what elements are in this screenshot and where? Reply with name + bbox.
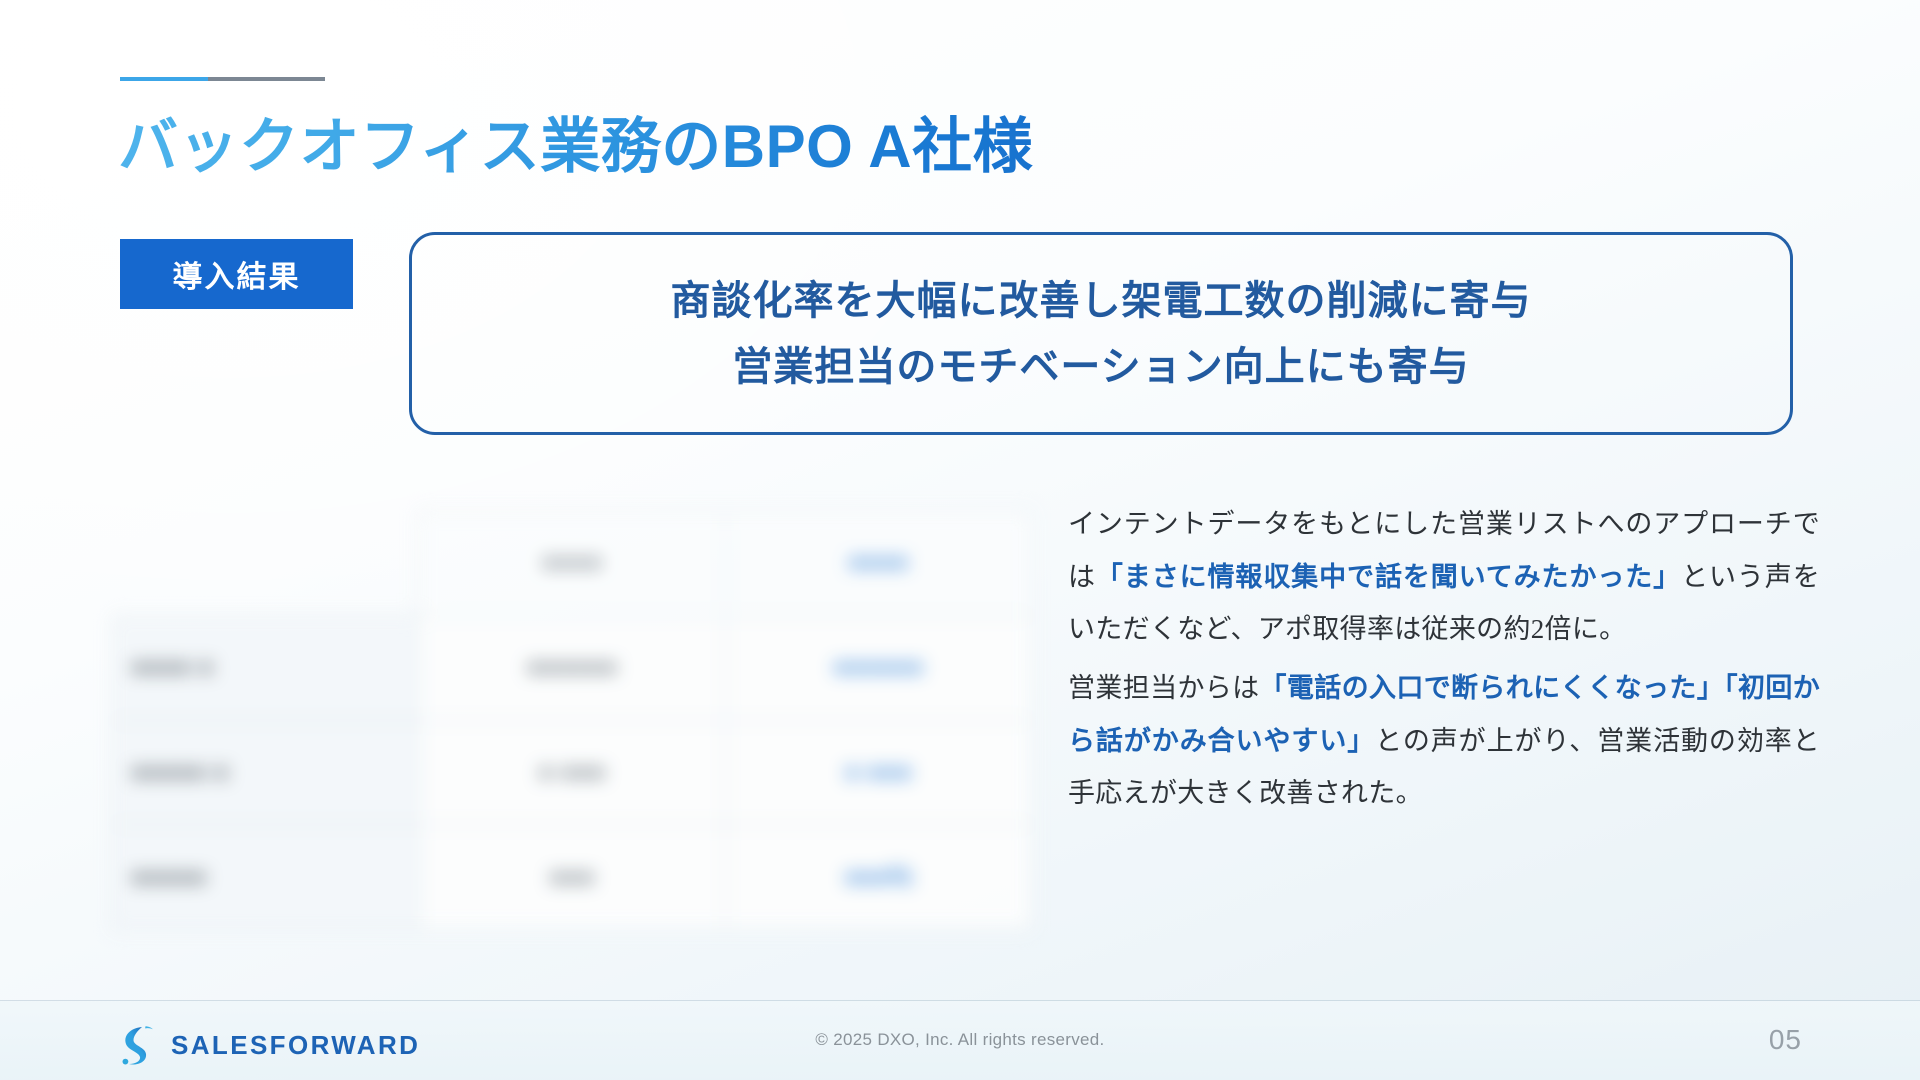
table-column-header-before: ●●●● xyxy=(419,511,725,616)
table-cell-before: ●●●●●● xyxy=(419,615,725,720)
table-row: ●●●●● ● ● ●●● ● ●●● xyxy=(113,720,1032,825)
narrative-paragraph-2: 営業担当からは「電話の入口で断られにくくなった」「初回から話がかみ合いやすい」と… xyxy=(1068,662,1820,820)
table-row: ●●●● ● ●●●●●● ●●●●●● xyxy=(113,615,1032,720)
headline-line-1: 商談化率を大幅に改善し架電工数の削減に寄与 xyxy=(671,272,1532,330)
table-row-label: ●●●● ● xyxy=(113,615,419,720)
narrative-p1-quote-1: 「まさに情報収集中で話を聞いてみたかった」 xyxy=(1096,562,1681,592)
table-row-label: ●●●●● xyxy=(113,825,419,930)
headline-callout-box: 商談化率を大幅に改善し架電工数の削減に寄与 営業担当のモチベーション向上にも寄与 xyxy=(409,232,1793,435)
narrative-p2-text-1: 営業担当からは xyxy=(1068,673,1260,703)
metrics-table: ●●●● ●●●● ●●●● ● ●●●●●● ●●●●●● ●●●●● ● ●… xyxy=(112,510,1032,930)
table-cell-after: ●●●●●● xyxy=(725,615,1031,720)
page-number: 05 xyxy=(1769,1024,1802,1056)
page-title: バックオフィス業務のBPO A社様 xyxy=(118,112,1033,181)
table-cell-after: ●●●% xyxy=(725,825,1031,930)
narrative-text: インテントデータをもとにした営業リストへのアプローチでは「まさに情報収集中で話を… xyxy=(1068,498,1820,826)
narrative-p2-quote-1: 「電話の入口で断られにくくなった」 xyxy=(1260,673,1725,703)
copyright-text: © 2025 DXO, Inc. All rights reserved. xyxy=(815,1030,1104,1050)
accent-rule-gray-segment xyxy=(208,77,325,81)
salesforward-logo-icon xyxy=(116,1023,158,1067)
brand-logo: SALESFORWARD xyxy=(116,1023,420,1067)
metrics-table-redacted: ●●●● ●●●● ●●●● ● ●●●●●● ●●●●●● ●●●●● ● ●… xyxy=(112,510,1032,930)
table-row: ●●●●● ●●● ●●●% xyxy=(113,825,1032,930)
headline-line-2: 営業担当のモチベーション向上にも寄与 xyxy=(732,338,1469,396)
status-badge: 導入結果 xyxy=(120,239,353,309)
accent-rule xyxy=(120,77,325,81)
table-cell-before: ● ●●● xyxy=(419,720,725,825)
narrative-paragraph-1: インテントデータをもとにした営業リストへのアプローチでは「まさに情報収集中で話を… xyxy=(1068,498,1820,656)
table-header-row: ●●●● ●●●● xyxy=(113,511,1032,616)
table-cell-before: ●●● xyxy=(419,825,725,930)
accent-rule-blue-segment xyxy=(120,77,208,81)
table-cell-after: ● ●●● xyxy=(725,720,1031,825)
footer-divider xyxy=(0,1000,1920,1001)
brand-wordmark: SALESFORWARD xyxy=(171,1030,420,1061)
table-column-header-after: ●●●● xyxy=(725,511,1031,616)
table-corner-cell xyxy=(113,511,419,616)
table-row-label: ●●●●● ● xyxy=(113,720,419,825)
